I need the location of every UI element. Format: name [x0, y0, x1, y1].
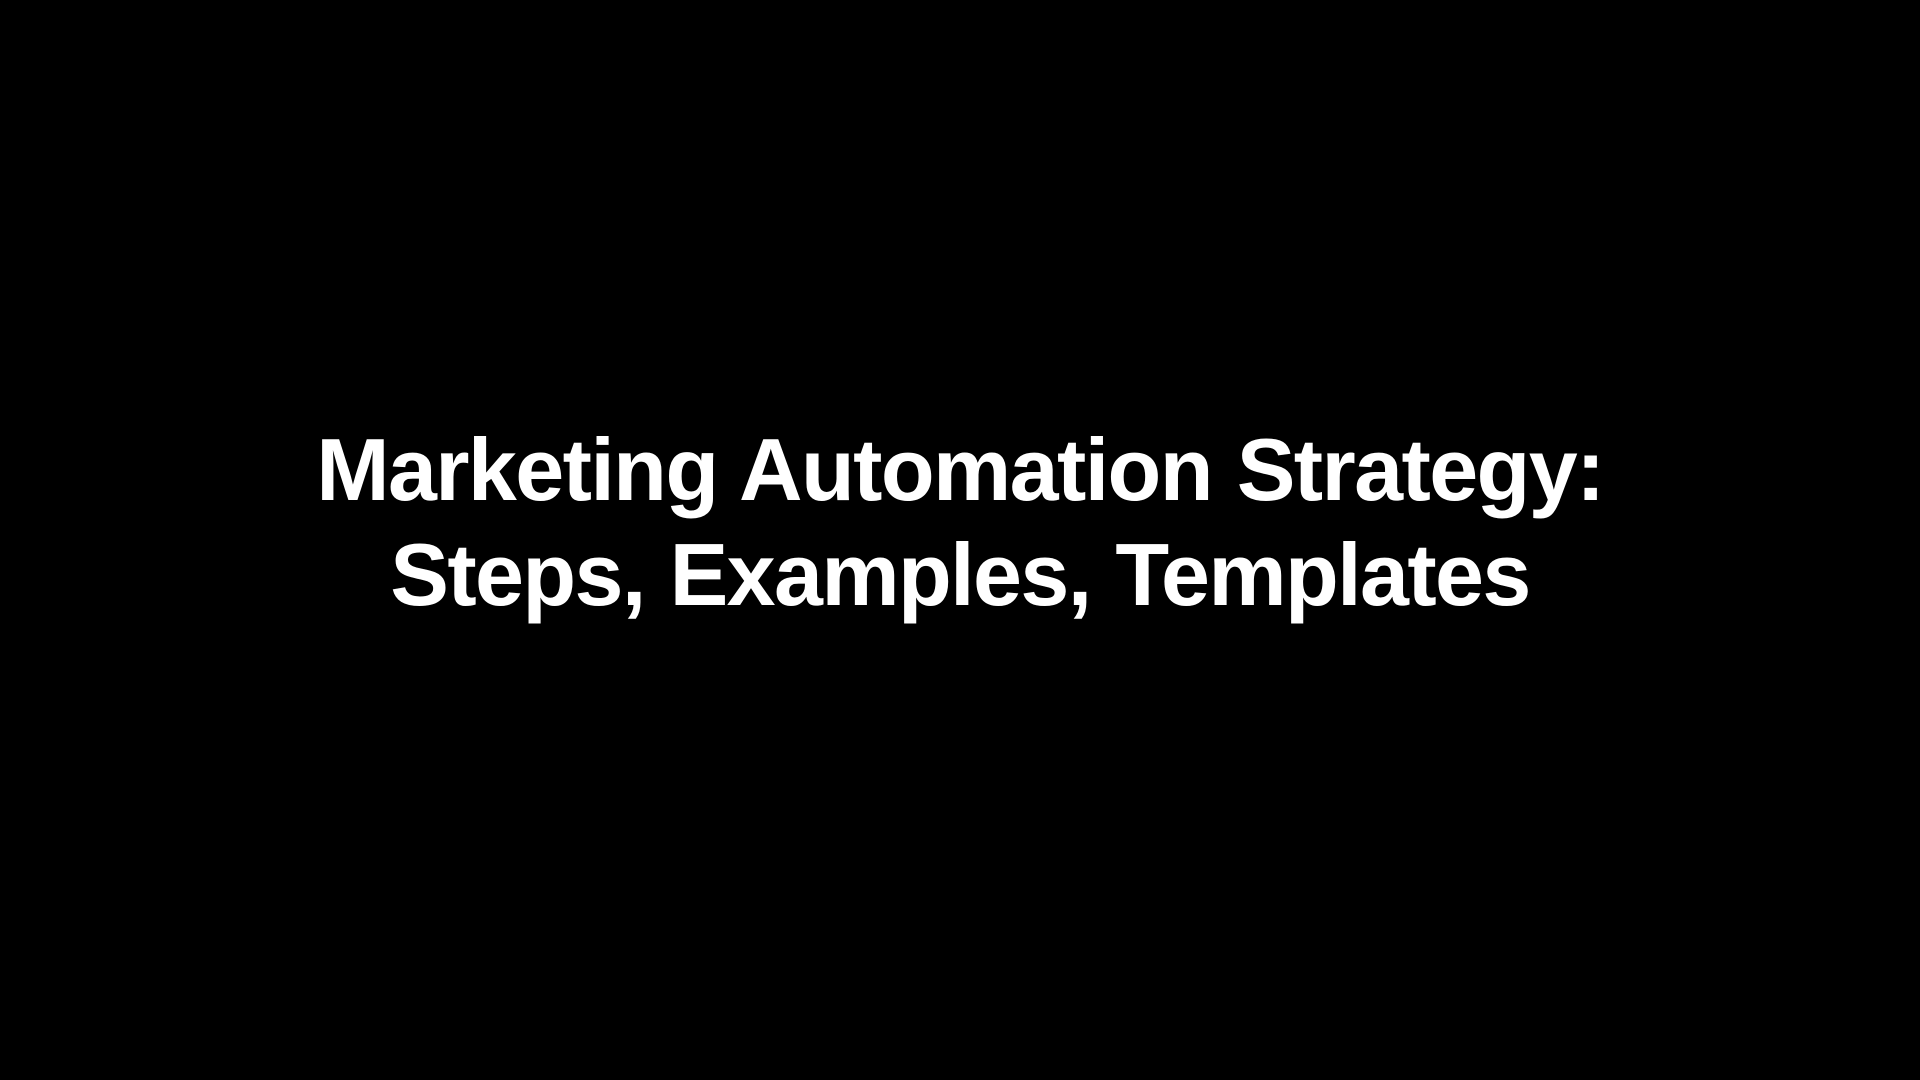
slide-canvas: Marketing Automation Strategy: Steps, Ex… [0, 0, 1920, 1080]
title-block: Marketing Automation Strategy: Steps, Ex… [240, 417, 1680, 663]
page-title: Marketing Automation Strategy: Steps, Ex… [240, 417, 1680, 627]
page-title-line-2: Steps, Examples, Templates [240, 522, 1680, 627]
page-title-line-1: Marketing Automation Strategy: [240, 417, 1680, 522]
